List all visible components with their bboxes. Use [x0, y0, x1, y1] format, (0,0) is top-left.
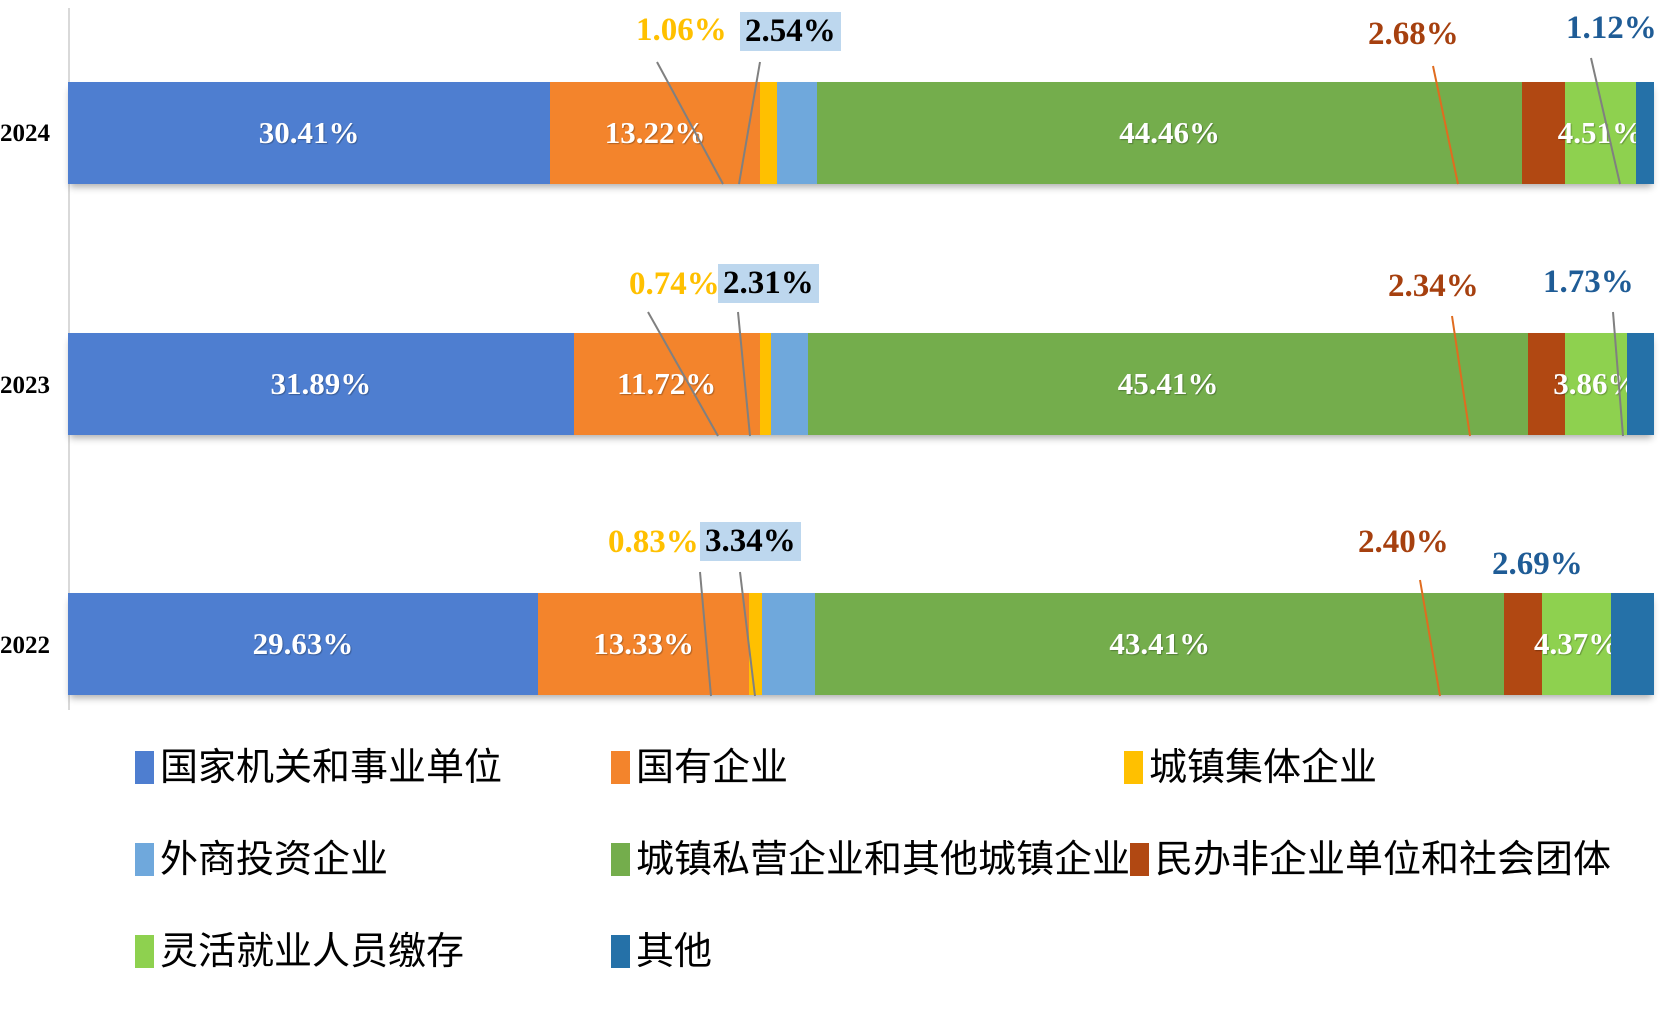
segment-2024-private[interactable]: 44.46%: [817, 82, 1522, 184]
segment-2023-other[interactable]: [1627, 333, 1654, 435]
segment-2024-govt[interactable]: 30.41%: [68, 82, 550, 184]
legend-label: 城镇私营企业和其他城镇企业: [636, 840, 1130, 878]
legend-label: 外商投资企业: [160, 840, 388, 878]
bar-track-2022: 29.63% 13.33% 43.41% 4.37%: [68, 593, 1654, 695]
callout-2023-nonprofit: 2.34%: [1388, 268, 1479, 305]
legend-label: 城镇集体企业: [1149, 748, 1377, 786]
bar-track-2023: 31.89% 11.72% 45.41% 3.86%: [68, 333, 1654, 435]
segment-2022-soe[interactable]: 13.33%: [538, 593, 749, 695]
segment-value-label: 11.72%: [617, 366, 716, 402]
plot-area: 2024 2023 2022 30.41% 13.22% 44.46% 4.51…: [0, 0, 1662, 718]
legend-row-2: 外商投资企业 城镇私营企业和其他城镇企业 民办非企业单位和社会团体: [0, 828, 1662, 896]
axis-tick-2024: 2024: [0, 120, 62, 148]
segment-2022-collective[interactable]: [749, 593, 762, 695]
segment-value-label: 44.46%: [1119, 115, 1220, 151]
segment-value-label: 4.37%: [1534, 626, 1619, 662]
legend-swatch-icon: [611, 935, 630, 968]
segment-2022-private[interactable]: 43.41%: [815, 593, 1503, 695]
callout-2024-nonprofit: 2.68%: [1368, 16, 1459, 53]
segment-2022-flexible[interactable]: 4.37%: [1542, 593, 1611, 695]
segment-2022-foreign[interactable]: [762, 593, 815, 695]
segment-2023-flexible[interactable]: 3.86%: [1565, 333, 1626, 435]
legend-item-flexible[interactable]: 灵活就业人员缴存: [135, 920, 464, 982]
callout-2024-other: 1.12%: [1566, 10, 1657, 47]
segment-value-label: 30.41%: [259, 115, 360, 151]
legend-item-foreign[interactable]: 外商投资企业: [135, 828, 388, 890]
legend-label: 灵活就业人员缴存: [160, 932, 464, 970]
bar-row-2022: 29.63% 13.33% 43.41% 4.37%: [68, 593, 1654, 695]
callout-2022-nonprofit: 2.40%: [1358, 524, 1449, 561]
callout-2023-other: 1.73%: [1543, 264, 1634, 301]
legend-item-other[interactable]: 其他: [611, 920, 712, 982]
legend-label: 民办非企业单位和社会团体: [1155, 840, 1611, 878]
legend-label: 其他: [636, 932, 712, 970]
legend-item-private[interactable]: 城镇私营企业和其他城镇企业: [611, 828, 1130, 890]
callout-2022-foreign: 3.34%: [700, 522, 801, 561]
segment-value-label: 13.22%: [605, 115, 706, 151]
bar-track-2024: 30.41% 13.22% 44.46% 4.51%: [68, 82, 1654, 184]
legend-swatch-icon: [1124, 751, 1143, 784]
segment-2023-foreign[interactable]: [771, 333, 808, 435]
segment-value-label: 45.41%: [1118, 366, 1219, 402]
legend-swatch-icon: [135, 751, 154, 784]
segment-value-label: 4.51%: [1558, 115, 1643, 151]
callout-2023-collective: 0.74%: [629, 266, 720, 303]
segment-2024-soe[interactable]: 13.22%: [550, 82, 760, 184]
bar-row-2024: 30.41% 13.22% 44.46% 4.51%: [68, 82, 1654, 184]
segment-2022-other[interactable]: [1611, 593, 1654, 695]
legend-item-soe[interactable]: 国有企业: [611, 736, 788, 798]
segment-2023-soe[interactable]: 11.72%: [574, 333, 760, 435]
legend-item-nonprofit[interactable]: 民办非企业单位和社会团体: [1130, 828, 1611, 890]
legend-swatch-icon: [1130, 843, 1149, 876]
segment-2022-govt[interactable]: 29.63%: [68, 593, 538, 695]
segment-2023-private[interactable]: 45.41%: [808, 333, 1528, 435]
legend-label: 国家机关和事业单位: [160, 748, 502, 786]
legend-label: 国有企业: [636, 748, 788, 786]
stacked-bar-chart: 2024 2023 2022 30.41% 13.22% 44.46% 4.51…: [0, 0, 1662, 1035]
segment-2024-foreign[interactable]: [777, 82, 817, 184]
segment-2023-govt[interactable]: 31.89%: [68, 333, 574, 435]
legend-item-govt[interactable]: 国家机关和事业单位: [135, 736, 502, 798]
segment-value-label: 13.33%: [593, 626, 694, 662]
legend-item-collective[interactable]: 城镇集体企业: [1124, 736, 1377, 798]
legend: 国家机关和事业单位 国有企业 城镇集体企业 外商投资企业 城镇私营企业和其他城镇…: [0, 718, 1662, 1035]
callout-2022-other: 2.69%: [1492, 546, 1583, 583]
callout-2023-foreign: 2.31%: [718, 264, 819, 303]
segment-2023-collective[interactable]: [760, 333, 772, 435]
segment-value-label: 31.89%: [271, 366, 372, 402]
bar-row-2023: 31.89% 11.72% 45.41% 3.86%: [68, 333, 1654, 435]
legend-swatch-icon: [135, 843, 154, 876]
segment-value-label: 43.41%: [1109, 626, 1210, 662]
segment-2024-collective[interactable]: [760, 82, 777, 184]
callout-2024-collective: 1.06%: [636, 12, 727, 49]
axis-tick-2022: 2022: [0, 632, 62, 660]
callout-2024-foreign: 2.54%: [740, 12, 841, 51]
legend-row-1: 国家机关和事业单位 国有企业 城镇集体企业: [0, 736, 1662, 804]
legend-row-3: 灵活就业人员缴存 其他: [0, 920, 1662, 988]
axis-tick-2023: 2023: [0, 372, 62, 400]
callout-2022-collective: 0.83%: [608, 524, 699, 561]
legend-swatch-icon: [611, 751, 630, 784]
segment-2024-flexible[interactable]: 4.51%: [1565, 82, 1637, 184]
segment-value-label: 29.63%: [253, 626, 354, 662]
legend-swatch-icon: [611, 843, 630, 876]
legend-swatch-icon: [135, 935, 154, 968]
segment-2024-other[interactable]: [1636, 82, 1654, 184]
